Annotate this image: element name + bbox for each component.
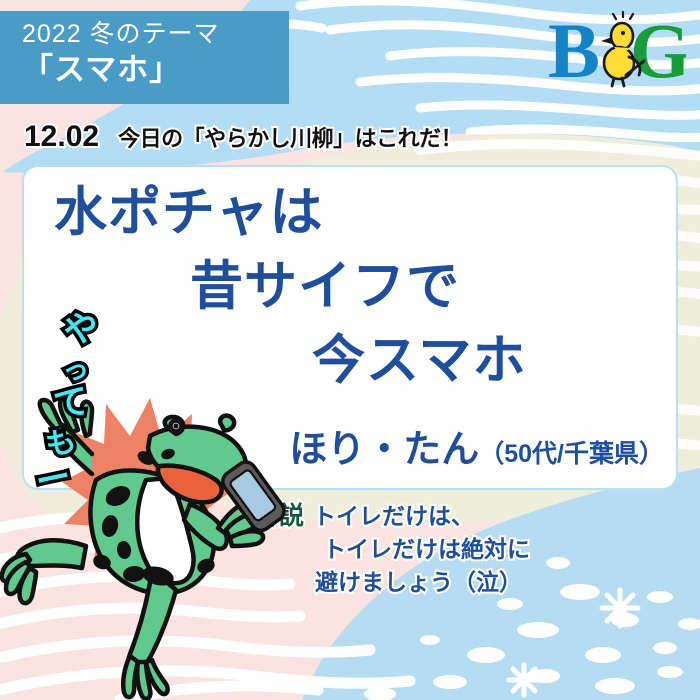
logo-letter-g-icon: G [630, 11, 686, 89]
commentary-line-2: トイレだけは絶対に [313, 533, 530, 566]
theme-banner: 2022 冬のテーマ 「スマホ」 [0, 11, 289, 104]
logo-letter-b-icon: B [548, 11, 600, 89]
smartphone-dropped-icon [214, 458, 294, 536]
theme-name-label: 「スマホ」 [22, 50, 289, 90]
date-row: 12.02 今日の「やらかし川柳」はこれだ！ [24, 120, 462, 154]
poster-canvas: 2022 冬のテーマ 「スマホ」 12.02 今日の「やらかし川柳」はこれだ！ … [0, 0, 700, 700]
commentary-body: トイレだけは、 トイレだけは絶対に 避けましょう（泣） [313, 500, 530, 599]
author-name: ほり・たん [289, 418, 479, 473]
bg-logo: B G [546, 11, 686, 94]
poem-line-1: 水ポチャは [22, 176, 678, 250]
author-row: ほり・たん （50代/千葉県） [289, 418, 664, 473]
poem-line-2: 昔サイフで [22, 250, 678, 324]
commentary-line-1: トイレだけは、 [313, 500, 530, 533]
commentary-line-3: 避けましょう（泣） [313, 566, 530, 599]
theme-year-label: 2022 冬のテーマ [22, 18, 289, 50]
poem-text: 水ポチャは 昔サイフで 今スマホ [22, 176, 678, 398]
date-label: 12.02 [24, 120, 99, 154]
date-caption-label: 今日の「やらかし川柳」はこれだ！ [118, 121, 462, 153]
author-meta: （50代/千葉県） [479, 434, 664, 470]
